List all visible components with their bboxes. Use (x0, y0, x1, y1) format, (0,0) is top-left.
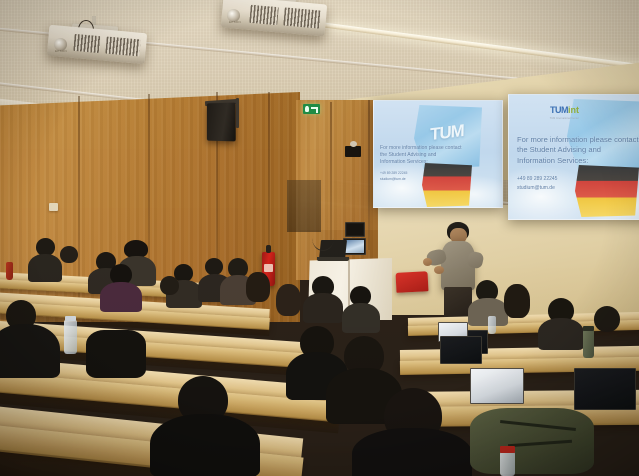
ceiling-projector-right: EPSON (222, 0, 326, 42)
monitor-screen-off (347, 224, 363, 235)
audience-body-foreground (0, 324, 60, 378)
audience-body (28, 254, 62, 282)
projector-brand-label: EPSON (229, 20, 241, 24)
water-bottle (6, 262, 13, 280)
water-bottle-foreground (500, 452, 515, 476)
laptop-screen (574, 368, 636, 410)
audience-head-long-hair (246, 272, 270, 302)
ceiling-projector-left: EPSON (48, 22, 146, 70)
audience-head (594, 306, 620, 332)
tum-flag-logo: TUM (430, 121, 464, 145)
emergency-exit-sign (303, 104, 320, 114)
red-chair (395, 271, 428, 293)
audience-laptop-foreground[interactable] (440, 336, 480, 362)
wood-panel-seam (78, 96, 80, 306)
audience-laptop-foreground[interactable] (574, 368, 634, 408)
laptop-screen (440, 336, 482, 364)
laptop-screen (470, 368, 524, 404)
slide-headline-3: Information Services: (517, 156, 639, 166)
extinguisher-label (264, 264, 274, 272)
thermos-cap (583, 326, 594, 331)
slide-text-right: For more information please contact the … (517, 135, 639, 166)
ceiling-loudspeaker (207, 103, 236, 142)
water-bottle (488, 316, 496, 334)
slide-headline-1: For more information please contact (517, 135, 639, 145)
audience-body (342, 303, 380, 333)
wall-monitor-upper (345, 222, 365, 237)
monitor-screen-on (345, 240, 364, 253)
tum-int-logo: TUMint TUM International Center (519, 101, 579, 120)
projection-screen-right: TUMint TUM International Center For more… (508, 94, 639, 220)
thermos-bottle (583, 330, 594, 358)
lectern-laptop-base (317, 257, 349, 261)
slide-email: studium@tum.de (517, 184, 639, 193)
projector-brand-label: EPSON (55, 49, 67, 53)
wood-panel-seam (368, 100, 370, 250)
audience-body-purple (100, 282, 142, 312)
audience-head-long-hair (276, 284, 301, 316)
audience-body (538, 318, 584, 350)
wall-camera-bracket (345, 146, 361, 157)
bottle-cap (65, 316, 76, 321)
speaker-pole (236, 98, 239, 128)
wood-panel-seam (330, 102, 332, 252)
slide-phone: +49 89 289 22245 (517, 175, 639, 184)
olive-backpack (470, 408, 594, 474)
light-switch-plate[interactable] (49, 203, 58, 211)
presenter-right-hand (434, 266, 444, 274)
audience-head (205, 258, 223, 275)
audience-laptop-foreground[interactable] (470, 368, 522, 402)
audience-head (160, 276, 179, 295)
presenter-left-hand (423, 258, 432, 266)
audience-body (303, 293, 343, 323)
slide-headline-3: Information Services: (380, 159, 490, 166)
slide-headline-2: the Student Advising and (517, 145, 639, 155)
slide-text-left: For more information please contact the … (380, 145, 490, 166)
slide-contact-left: +49 89 289 22245 studium@tum.de (380, 171, 490, 183)
audience-body-foreground (352, 428, 472, 476)
projector-vent (249, 5, 278, 25)
projector-vent (283, 7, 320, 28)
projector-vent (73, 34, 100, 53)
projector-vent (105, 37, 140, 57)
tum-logo-suffix: int (568, 105, 579, 115)
doorway-recess (287, 180, 321, 232)
slide-headline-1: For more information please contact (380, 145, 490, 152)
audience-body-foreground (150, 414, 260, 476)
lecture-hall-photo: EPSON EPSON TUM (0, 0, 639, 476)
water-bottle (64, 320, 77, 354)
tum-logo-main: TUM (550, 105, 568, 115)
bottle-cap-red (500, 446, 515, 453)
audience-head (60, 246, 78, 263)
backpack-foreground (86, 330, 146, 378)
tum-logo-subtitle: TUM International Center (519, 118, 579, 120)
projection-screen-left: TUM For more information please contact … (373, 100, 503, 208)
german-flag-graphic (422, 163, 472, 207)
audience-head-long-hair (504, 284, 530, 318)
slide-contact-right: +49 89 289 22245 studium@tum.de (517, 175, 639, 192)
slide-headline-2: the Student Advising and (380, 152, 490, 159)
wall-camera-head (350, 141, 357, 147)
slide-email: studium@tum.de (380, 177, 490, 183)
